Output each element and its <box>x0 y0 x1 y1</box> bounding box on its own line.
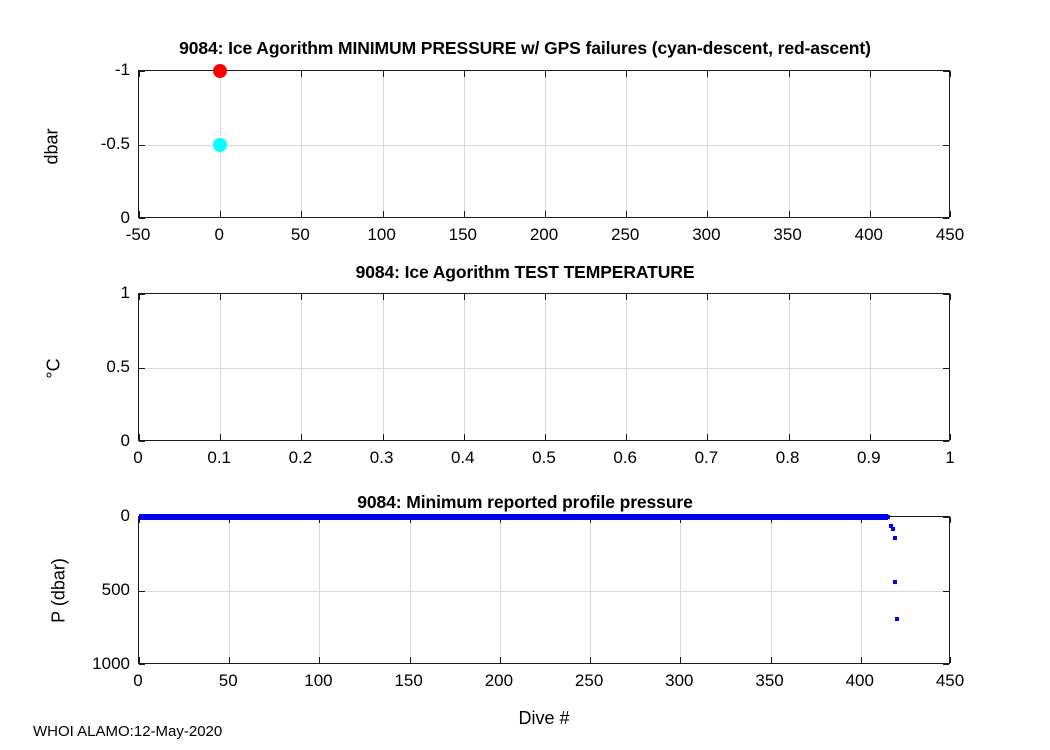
x-axis-tick <box>590 657 591 663</box>
y-axis-tick <box>139 218 145 219</box>
y-axis-tick <box>139 664 145 665</box>
x-axis-tick-label: 450 <box>936 225 964 245</box>
y-axis-tick <box>943 218 949 219</box>
x-axis-tick-label: 150 <box>394 671 422 691</box>
y-axis-tick <box>943 591 949 592</box>
panel1-plot-area <box>138 70 950 218</box>
x-axis-tick <box>545 434 546 440</box>
x-axis-tick <box>464 434 465 440</box>
x-axis-tick-label: 0.5 <box>532 448 556 468</box>
panel2-plot-area <box>138 293 950 441</box>
y-axis-tick <box>139 145 145 146</box>
x-axis-tick-label: 200 <box>485 671 513 691</box>
x-axis-tick <box>139 211 140 217</box>
gridline-horizontal <box>139 368 949 369</box>
x-axis-tick-label: 250 <box>611 225 639 245</box>
gridline-vertical <box>464 71 465 217</box>
x-axis-tick <box>707 211 708 217</box>
x-axis-tick <box>870 294 871 300</box>
y-axis-tick <box>943 71 949 72</box>
x-axis-tick <box>950 434 951 440</box>
x-axis-tick <box>220 434 221 440</box>
y-axis-tick <box>943 517 949 518</box>
x-axis-tick-label: 0.4 <box>451 448 475 468</box>
x-axis-tick <box>301 434 302 440</box>
x-axis-tick <box>301 211 302 217</box>
x-axis-tick <box>229 657 230 663</box>
x-axis-tick <box>220 294 221 300</box>
x-axis-tick <box>139 657 140 663</box>
x-axis-tick-label: 0.1 <box>207 448 231 468</box>
x-axis-tick-label: 0 <box>133 448 142 468</box>
y-axis-tick-label: -1 <box>52 60 130 80</box>
x-axis-tick <box>789 434 790 440</box>
gridline-vertical <box>626 294 627 440</box>
y-axis-tick <box>139 368 145 369</box>
x-axis-tick-label: 350 <box>755 671 783 691</box>
y-axis-tick-label: -0.5 <box>52 134 130 154</box>
x-axis-tick <box>707 434 708 440</box>
x-axis-tick <box>950 294 951 300</box>
x-axis-tick-label: 300 <box>692 225 720 245</box>
x-axis-tick <box>545 294 546 300</box>
y-axis-tick <box>943 664 949 665</box>
gridline-vertical <box>301 294 302 440</box>
y-axis-tick <box>943 368 949 369</box>
x-axis-tick <box>626 211 627 217</box>
gridline-vertical <box>680 517 681 663</box>
x-axis-tick-label: 250 <box>575 671 603 691</box>
x-axis-tick <box>870 71 871 77</box>
figure-canvas: 9084: Ice Agorithm MINIMUM PRESSURE w/ G… <box>0 0 1050 750</box>
x-axis-tick <box>789 294 790 300</box>
gridline-vertical <box>870 294 871 440</box>
panel-min-reported-profile-pressure: 9084: Minimum reported profile pressure … <box>0 480 1050 750</box>
y-axis-tick-label: 500 <box>52 580 130 600</box>
x-axis-tick <box>220 211 221 217</box>
data-line <box>139 514 888 520</box>
y-axis-tick <box>943 441 949 442</box>
gridline-vertical <box>301 71 302 217</box>
x-axis-tick-label: 100 <box>367 225 395 245</box>
panel-minimum-pressure: 9084: Ice Agorithm MINIMUM PRESSURE w/ G… <box>0 0 1050 250</box>
x-axis-tick <box>464 211 465 217</box>
data-point <box>213 138 227 152</box>
panel1-title: 9084: Ice Agorithm MINIMUM PRESSURE w/ G… <box>0 38 1050 59</box>
x-axis-tick <box>861 657 862 663</box>
data-point <box>895 617 899 621</box>
gridline-vertical <box>220 294 221 440</box>
x-axis-tick <box>383 294 384 300</box>
x-axis-tick-label: 400 <box>846 671 874 691</box>
x-axis-tick <box>950 71 951 77</box>
y-axis-tick <box>943 294 949 295</box>
x-axis-tick <box>301 71 302 77</box>
x-axis-tick-label: 0 <box>133 671 142 691</box>
x-axis-tick <box>771 657 772 663</box>
x-axis-tick <box>707 294 708 300</box>
data-point <box>893 536 897 540</box>
y-axis-tick <box>139 441 145 442</box>
x-axis-tick <box>950 517 951 523</box>
panel3-plot-area <box>138 516 950 664</box>
gridline-vertical <box>545 294 546 440</box>
x-axis-tick <box>545 71 546 77</box>
gridline-vertical <box>590 517 591 663</box>
gridline-vertical <box>319 517 320 663</box>
footer-caption: WHOI ALAMO:12-May-2020 <box>33 723 222 740</box>
gridline-vertical <box>229 517 230 663</box>
x-axis-tick-label: 50 <box>219 671 238 691</box>
x-axis-tick <box>950 657 951 663</box>
y-axis-tick-label: 0 <box>52 208 130 228</box>
x-axis-tick <box>545 211 546 217</box>
gridline-vertical <box>789 71 790 217</box>
gridline-horizontal <box>139 145 949 146</box>
y-axis-tick <box>943 145 949 146</box>
x-axis-tick <box>626 294 627 300</box>
x-axis-tick-label: -50 <box>126 225 151 245</box>
gridline-vertical <box>870 71 871 217</box>
data-point <box>886 515 890 519</box>
x-axis-tick <box>626 71 627 77</box>
y-axis-tick-label: 0 <box>52 431 130 451</box>
x-axis-tick <box>707 71 708 77</box>
x-axis-tick-label: 0.6 <box>613 448 637 468</box>
gridline-vertical <box>771 517 772 663</box>
panel3-xlabel: Dive # <box>518 708 569 729</box>
gridline-vertical <box>383 71 384 217</box>
x-axis-tick-label: 0 <box>214 225 223 245</box>
gridline-vertical <box>861 517 862 663</box>
x-axis-tick-label: 0.2 <box>289 448 313 468</box>
x-axis-tick <box>383 71 384 77</box>
x-axis-tick <box>870 211 871 217</box>
gridline-vertical <box>626 71 627 217</box>
panel-test-temperature: 9084: Ice Agorithm TEST TEMPERATURE °C 0… <box>0 250 1050 480</box>
gridline-horizontal <box>139 591 949 592</box>
gridline-vertical <box>464 294 465 440</box>
x-axis-tick-label: 150 <box>449 225 477 245</box>
x-axis-tick <box>950 211 951 217</box>
x-axis-tick <box>789 71 790 77</box>
x-axis-tick <box>464 294 465 300</box>
x-axis-tick <box>383 211 384 217</box>
x-axis-tick-label: 300 <box>665 671 693 691</box>
x-axis-tick <box>139 434 140 440</box>
y-axis-tick <box>139 591 145 592</box>
x-axis-tick-label: 100 <box>304 671 332 691</box>
y-axis-tick <box>139 294 145 295</box>
gridline-vertical <box>500 517 501 663</box>
x-axis-tick-label: 1 <box>945 448 954 468</box>
panel3-title: 9084: Minimum reported profile pressure <box>0 492 1050 513</box>
x-axis-tick <box>500 657 501 663</box>
x-axis-tick-label: 50 <box>291 225 310 245</box>
gridline-vertical <box>410 517 411 663</box>
x-axis-tick <box>464 71 465 77</box>
x-axis-tick-label: 400 <box>855 225 883 245</box>
x-axis-tick <box>680 657 681 663</box>
x-axis-tick <box>410 657 411 663</box>
x-axis-tick <box>789 211 790 217</box>
x-axis-tick-label: 0.9 <box>857 448 881 468</box>
gridline-vertical <box>707 71 708 217</box>
x-axis-tick-label: 200 <box>530 225 558 245</box>
x-axis-tick <box>626 434 627 440</box>
data-point <box>213 64 227 78</box>
gridline-vertical <box>383 294 384 440</box>
data-point <box>891 527 895 531</box>
gridline-vertical <box>789 294 790 440</box>
y-axis-tick <box>139 71 145 72</box>
data-point <box>893 580 897 584</box>
gridline-vertical <box>707 294 708 440</box>
y-axis-tick-label: 1000 <box>52 654 130 674</box>
y-axis-tick-label: 0 <box>52 506 130 526</box>
x-axis-tick-label: 350 <box>773 225 801 245</box>
x-axis-tick <box>383 434 384 440</box>
x-axis-tick <box>301 294 302 300</box>
x-axis-tick-label: 0.3 <box>370 448 394 468</box>
x-axis-tick-label: 0.7 <box>695 448 719 468</box>
y-axis-tick-label: 0.5 <box>52 357 130 377</box>
y-axis-tick-label: 1 <box>52 283 130 303</box>
panel2-title: 9084: Ice Agorithm TEST TEMPERATURE <box>0 262 1050 283</box>
x-axis-tick <box>870 434 871 440</box>
x-axis-tick-label: 0.8 <box>776 448 800 468</box>
gridline-vertical <box>545 71 546 217</box>
x-axis-tick <box>319 657 320 663</box>
x-axis-tick-label: 450 <box>936 671 964 691</box>
